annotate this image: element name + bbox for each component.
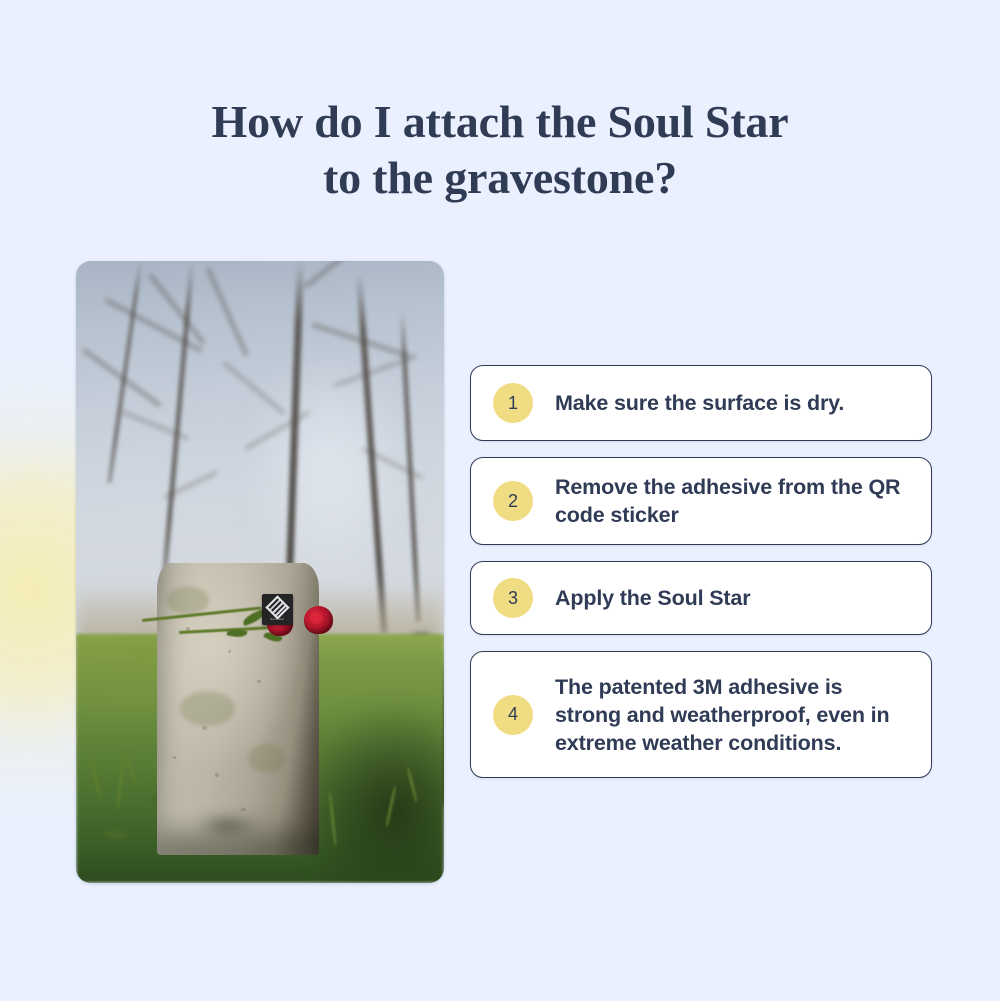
sticker-brand-label: Soul Star bbox=[270, 618, 284, 621]
stone-speck bbox=[173, 756, 176, 759]
step-text-2: Remove the adhesive from the QR code sti… bbox=[555, 473, 909, 529]
rose-petal bbox=[310, 612, 323, 624]
red-rose bbox=[304, 606, 333, 634]
step-card-1[interactable]: 1 Make sure the surface is dry. bbox=[470, 365, 932, 441]
instruction-steps-list: 1 Make sure the surface is dry. 2 Remove… bbox=[470, 365, 932, 794]
photo-scene: Soul Star bbox=[76, 261, 444, 883]
step-card-3[interactable]: 3 Apply the Soul Star bbox=[470, 561, 932, 635]
step-number-badge-2: 2 bbox=[493, 481, 533, 521]
page-title: How do I attach the Soul Star to the gra… bbox=[0, 94, 1000, 206]
stone-lichen bbox=[167, 586, 209, 615]
step-text-4: The patented 3M adhesive is strong and w… bbox=[555, 673, 909, 757]
stone-base-shadow bbox=[186, 811, 270, 840]
step-text-3: Apply the Soul Star bbox=[555, 584, 750, 612]
step-number-badge-3: 3 bbox=[493, 578, 533, 618]
stone-lichen bbox=[180, 691, 235, 726]
stone-speck bbox=[257, 680, 261, 683]
stone-lichen bbox=[248, 744, 287, 773]
page-title-line-2: to the gravestone? bbox=[0, 150, 1000, 206]
qr-code-sticker[interactable]: Soul Star bbox=[262, 594, 293, 625]
step-number-badge-4: 4 bbox=[493, 695, 533, 735]
step-text-1: Make sure the surface is dry. bbox=[555, 389, 844, 417]
step-card-4[interactable]: 4 The patented 3M adhesive is strong and… bbox=[470, 651, 932, 778]
qr-code-icon bbox=[265, 595, 289, 619]
gravestone bbox=[157, 563, 319, 855]
stone-speck bbox=[228, 650, 231, 653]
stone-speck bbox=[202, 726, 207, 730]
gravestone-photo: Soul Star bbox=[76, 261, 444, 883]
step-number-badge-1: 1 bbox=[493, 383, 533, 423]
page-title-line-1: How do I attach the Soul Star bbox=[0, 94, 1000, 150]
step-card-2[interactable]: 2 Remove the adhesive from the QR code s… bbox=[470, 457, 932, 545]
stone-speck bbox=[215, 773, 219, 777]
